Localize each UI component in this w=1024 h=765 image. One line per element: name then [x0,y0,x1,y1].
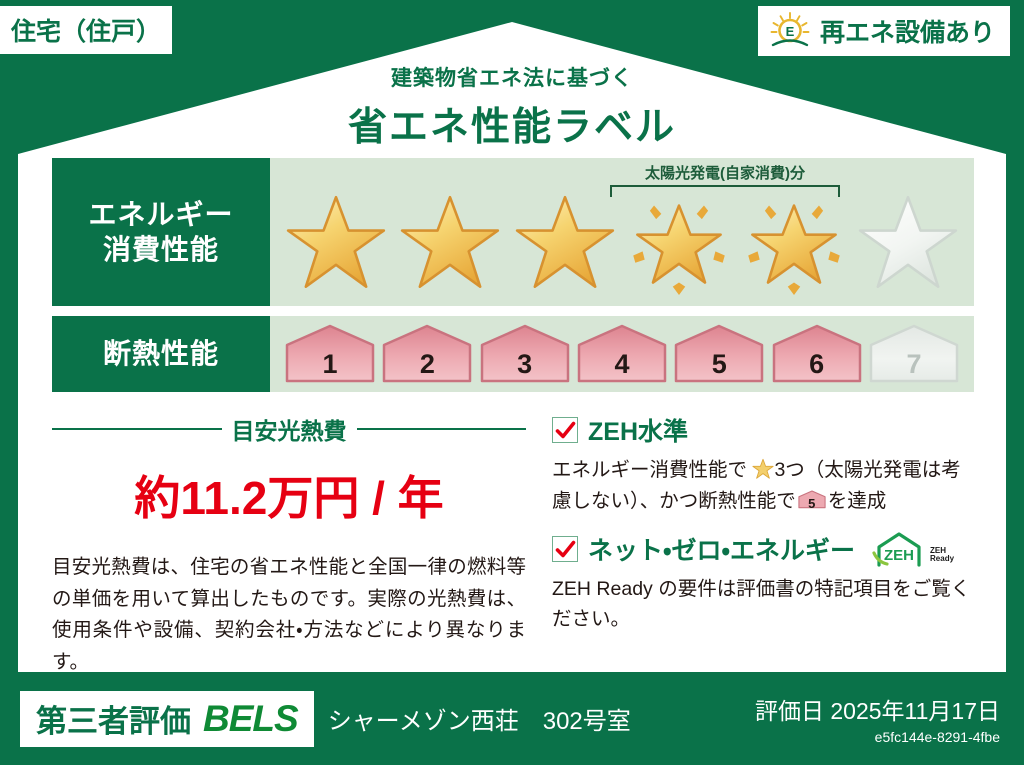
bels-logo: 第三者評価 BELS [20,691,314,747]
check-icon [555,539,576,560]
zeh-ready-logo: ZEH ZEH Ready [871,531,954,567]
energy-label-line2: 消費性能 [103,232,219,267]
zeh-house-mark-icon: ZEH [871,531,927,567]
svg-text:E: E [786,24,795,39]
category-tag: 住宅（住戸） [0,6,172,54]
sun-solar-icon: E [768,11,812,51]
energy-label-line1: エネルギー [88,197,233,232]
house-grade-icon-on: 2 [381,323,473,385]
category-tag-label: 住宅（住戸） [11,12,161,48]
footer-bar: 第三者評価 BELS シャーメゾン西荘 302号室 評価日 2025年11月17… [0,672,1024,765]
house-grade-icon-off: 7 [868,323,960,385]
bels-jp-label: 第三者評価 [36,696,191,741]
zeh-standard-description: エネルギー消費性能で 3つ（太陽光発電は考慮しない）、かつ断熱性能で 5 を達成 [552,455,974,517]
heading-rule-right [357,428,527,430]
inline-house-number: 5 [798,494,826,515]
lower-content: 目安光熱費 約11.2万円 / 年 目安光熱費は、住宅の省エネ性能と全国一律の燃… [52,412,974,678]
bels-en-label: BELS [203,698,298,740]
solar-annotation-label: 太陽光発電(自家消費)分 [610,162,840,183]
zeh-section: ZEH水準 エネルギー消費性能で 3つ（太陽光発電は考慮しない）、かつ断熱性能で… [544,412,974,678]
evaluation-date: 評価日 2025年11月17日 [755,692,1000,726]
star-icon-filled [513,191,617,295]
evaluation-id: e5fc144e-8291-4fbe [755,729,1000,745]
svg-text:ZEH: ZEH [884,547,914,564]
net-zero-title: ネット・ゼロ・エネルギー [588,531,855,567]
renewable-equipment-badge: E 再エネ設備あり [758,6,1010,56]
house-grade-icon-on: 6 [771,323,863,385]
star-icon-filled [284,191,388,295]
utility-cost-heading-label: 目安光熱費 [232,412,347,446]
house-grade-icon-on: 1 [284,323,376,385]
star-icon-empty [856,191,960,295]
zeh-ready-caption: ZEH Ready [930,547,954,567]
energy-performance-label: 住宅（住戸） E 再エネ設備あり 建築物省エネ法に基づ [0,0,1024,765]
net-zero-energy-block: ネット・ゼロ・エネルギー ZEH ZEH Ready [552,531,974,636]
zeh-standard-head: ZEH水準 [552,412,974,448]
house-grade-icon-on: 3 [479,323,571,385]
utility-cost-value: 約11.2万円 / 年 [52,462,526,528]
rating-rows: エネルギー 消費性能 太陽光発電(自家消費)分 [52,158,974,402]
insulation-label-text: 断熱性能 [103,336,219,371]
zeh-standard-checkbox[interactable] [552,417,578,443]
insulation-performance-body: 1 2 3 [270,316,974,392]
heading-rule-left [52,428,222,430]
net-zero-checkbox[interactable] [552,536,578,562]
renewable-badge-label: 再エネ設備あり [820,13,995,49]
zeh-desc-part2: を達成 [828,490,887,512]
star-icon-inline [752,458,774,480]
energy-consumption-label: エネルギー 消費性能 [52,158,270,306]
insulation-performance-row: 断熱性能 1 [52,316,974,392]
star-rating [284,184,960,302]
house-grade-icon-on: 4 [576,323,668,385]
star-icon-filled-solar [742,191,846,295]
star-icon-filled [398,191,502,295]
house-grade-icon-on: 5 [673,323,765,385]
zeh-desc-part1: エネルギー消費性能で [552,459,747,481]
energy-consumption-row: エネルギー 消費性能 太陽光発電(自家消費)分 [52,158,974,306]
net-zero-head: ネット・ゼロ・エネルギー ZEH ZEH Ready [552,531,974,567]
energy-consumption-body: 太陽光発電(自家消費)分 [270,158,974,306]
net-zero-description: ZEH Ready の要件は評価書の特記項目をご覧ください。 [552,574,974,636]
check-icon [555,420,576,441]
zeh-ready-line2: Ready [930,554,954,563]
evaluation-info: 評価日 2025年11月17日 e5fc144e-8291-4fbe [755,692,1000,745]
building-name: シャーメゾン西荘 302号室 [328,701,631,736]
zeh-standard-title: ZEH水準 [588,412,688,448]
utility-cost-heading: 目安光熱費 [52,412,526,446]
utility-cost-section: 目安光熱費 約11.2万円 / 年 目安光熱費は、住宅の省エネ性能と全国一律の燃… [52,412,544,678]
house-grade-icon-inline: 5 [798,489,826,510]
utility-cost-note: 目安光熱費は、住宅の省エネ性能と全国一律の燃料等の単価を用いて算出したものです。… [52,552,526,678]
insulation-performance-label: 断熱性能 [52,316,270,392]
star-icon-filled-solar [627,191,731,295]
zeh-standard-block: ZEH水準 エネルギー消費性能で 3つ（太陽光発電は考慮しない）、かつ断熱性能で… [552,412,974,517]
insulation-grade-scale: 1 2 3 [284,322,960,386]
